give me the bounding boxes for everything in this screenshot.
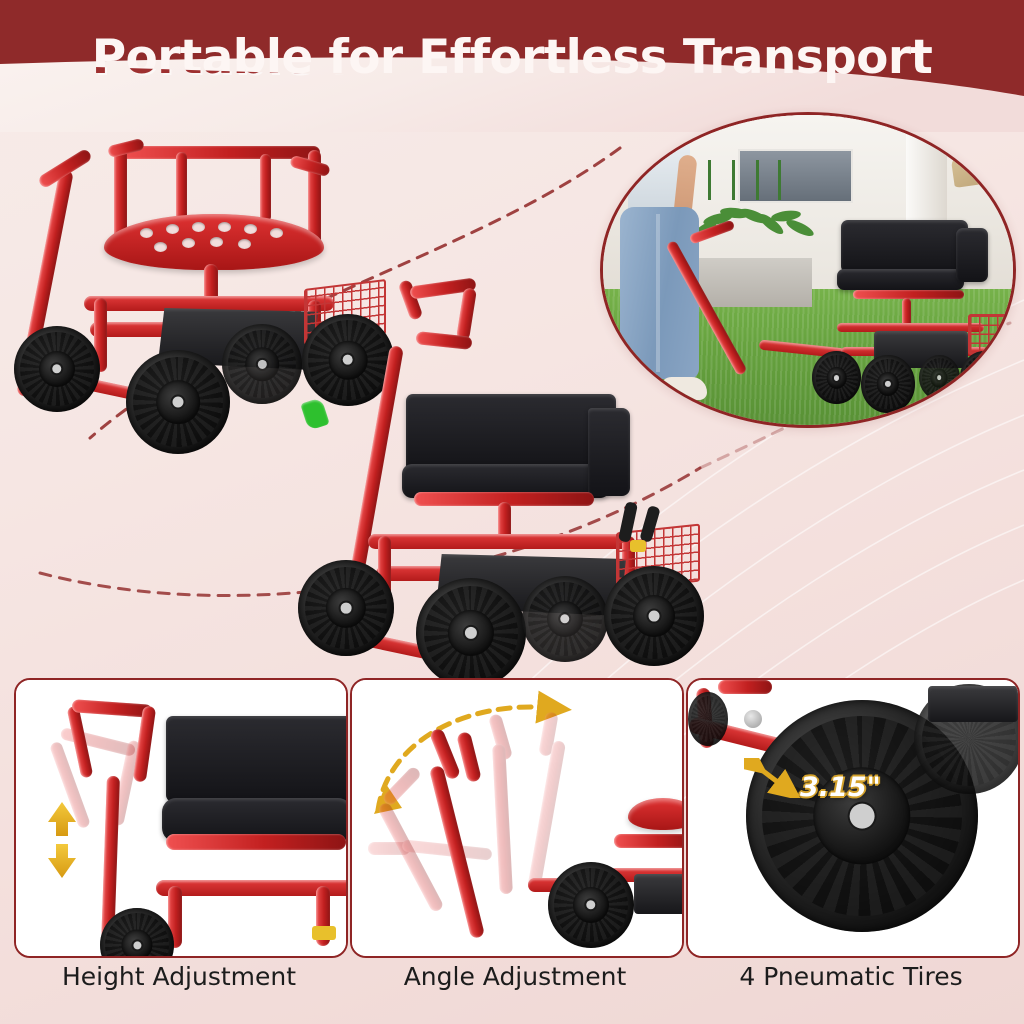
feature-panels: Height Adjustment xyxy=(0,678,1024,1024)
tire xyxy=(126,350,230,454)
infographic-page: Portable for Effortless Transport Portab… xyxy=(0,0,1024,1024)
up-down-arrow-icon xyxy=(42,800,84,880)
tire-measurement-label: 3.15" xyxy=(800,772,881,803)
person-pulling-cart xyxy=(611,140,718,400)
spray-nozzle-icon xyxy=(300,397,330,430)
panel-caption-height: Height Adjustment xyxy=(14,962,344,991)
panel-caption-angle: Angle Adjustment xyxy=(350,962,680,991)
hero-section xyxy=(0,108,1024,678)
panel-angle-adjustment[interactable] xyxy=(350,678,684,958)
tire xyxy=(522,576,608,662)
tire xyxy=(416,578,526,688)
panel-caption-tires: 4 Pneumatic Tires xyxy=(686,962,1016,991)
tire xyxy=(604,566,704,666)
tire xyxy=(298,560,394,656)
seat-backrest xyxy=(406,394,616,472)
panel-pneumatic-tires[interactable]: 3.15" xyxy=(686,678,1020,958)
panel-height-adjustment[interactable] xyxy=(14,678,348,958)
tire xyxy=(14,326,100,412)
measure-arrow-icon xyxy=(744,758,800,798)
lifestyle-inset-photo xyxy=(600,112,1016,428)
